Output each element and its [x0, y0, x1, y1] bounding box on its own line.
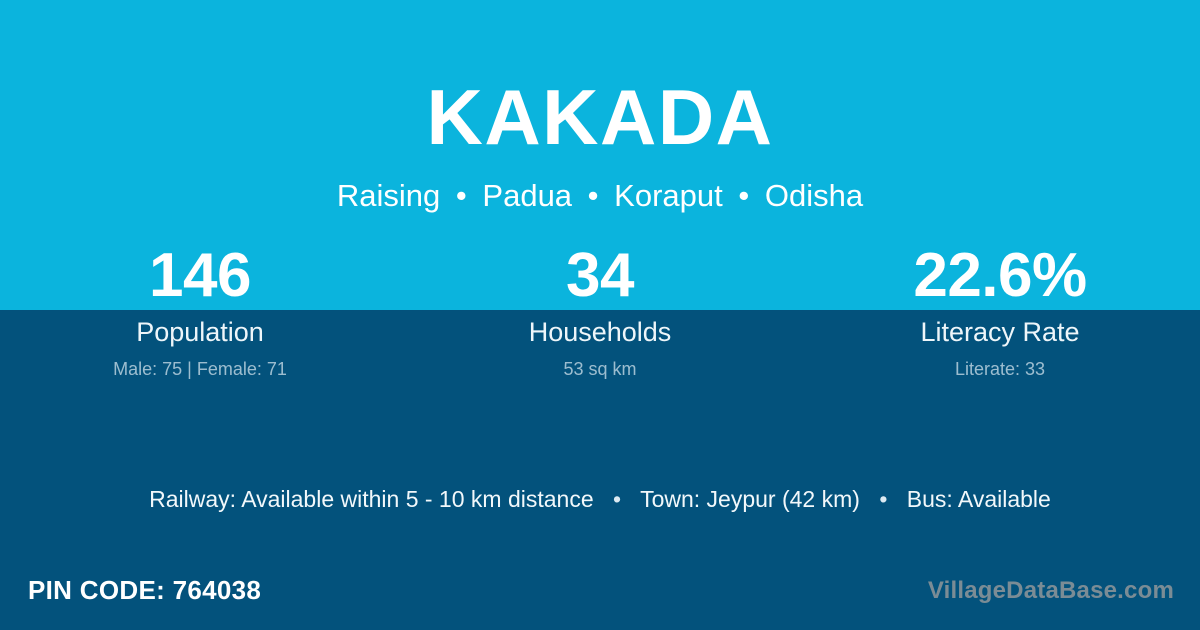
- stat-value: 34: [400, 243, 800, 309]
- breadcrumb-separator: •: [581, 180, 606, 211]
- breadcrumb-item-subdistrict: Padua: [482, 178, 572, 213]
- stat-value: 22.6%: [800, 243, 1200, 309]
- stat-label: Households: [400, 317, 800, 347]
- stat-sublabel: Male: 75 | Female: 71: [0, 359, 400, 379]
- breadcrumb: Raising • Padua • Koraput • Odisha: [0, 156, 1200, 211]
- stat-literacy-rate: 22.6% Literacy Rate Literate: 33: [800, 243, 1200, 379]
- amenity-bus: Bus: Available: [907, 486, 1051, 512]
- amenities-line: Railway: Available within 5 - 10 km dist…: [0, 484, 1200, 514]
- stat-label: Population: [0, 317, 400, 347]
- breadcrumb-separator: •: [449, 180, 474, 211]
- stat-label: Literacy Rate: [800, 317, 1200, 347]
- card-header: KAKADA Raising • Padua • Koraput • Odish…: [0, 0, 1200, 211]
- stats-row: 146 Population Male: 75 | Female: 71 34 …: [0, 243, 1200, 379]
- stat-households: 34 Households 53 sq km: [400, 243, 800, 379]
- site-watermark: VillageDataBase.com: [928, 576, 1174, 606]
- amenity-railway: Railway: Available within 5 - 10 km dist…: [149, 486, 593, 512]
- stat-sublabel: Literate: 33: [800, 359, 1200, 379]
- page-title: KAKADA: [0, 0, 1200, 156]
- breadcrumb-item-district: Koraput: [614, 178, 723, 213]
- stat-value: 146: [0, 243, 400, 309]
- village-info-card: KAKADA Raising • Padua • Koraput • Odish…: [0, 0, 1200, 630]
- breadcrumb-item-state: Odisha: [765, 178, 863, 213]
- card-footer: PIN CODE: 764038 VillageDataBase.com: [0, 570, 1200, 630]
- breadcrumb-separator: •: [731, 180, 756, 211]
- breadcrumb-item-block: Raising: [337, 178, 440, 213]
- amenity-nearest-town: Town: Jeypur (42 km): [640, 486, 860, 512]
- stat-population: 146 Population Male: 75 | Female: 71: [0, 243, 400, 379]
- amenity-separator: •: [600, 484, 634, 514]
- pin-code: PIN CODE: 764038: [28, 573, 261, 607]
- stat-sublabel: 53 sq km: [400, 359, 800, 379]
- amenity-separator: •: [866, 484, 900, 514]
